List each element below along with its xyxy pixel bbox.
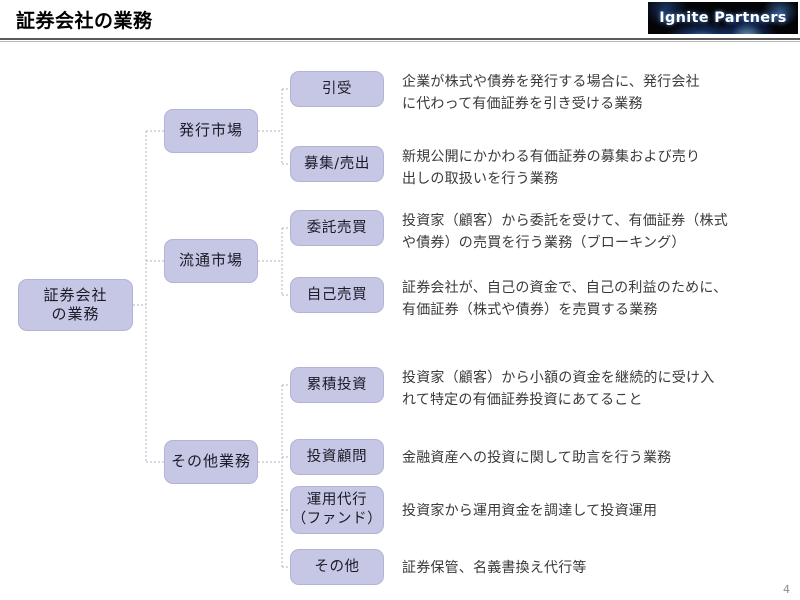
- node-leaf-proprietary-trading[interactable]: 自己売買: [290, 277, 384, 313]
- node-leaf-underwriting[interactable]: 引受: [290, 71, 384, 107]
- node-leaf-public-offering[interactable]: 募集/売出: [290, 146, 384, 182]
- header-divider: [0, 38, 800, 42]
- node-leaf-investment-advisory[interactable]: 投資顧問: [290, 439, 384, 475]
- node-branch-other-services[interactable]: その他業務: [164, 440, 258, 484]
- desc-underwriting: 企業が株式や債券を発行する場合に、発行会社 に代わって有価証券を引き受ける業務: [402, 72, 794, 115]
- node-leaf-others[interactable]: その他: [290, 549, 384, 585]
- header-divider-light: [0, 41, 800, 42]
- slide-header: 証券会社の業務 Ignite Partners: [0, 0, 800, 44]
- brand-logo-text: Ignite Partners: [648, 2, 798, 34]
- node-root[interactable]: 証券会社 の業務: [18, 279, 133, 331]
- brand-logo: Ignite Partners: [648, 2, 798, 34]
- node-leaf-fund-management[interactable]: 運用代行 （ファンド）: [290, 486, 384, 534]
- node-branch-secondary-market[interactable]: 流通市場: [164, 239, 258, 283]
- desc-public-offering: 新規公開にかかわる有価証券の募集および売り 出しの取扱いを行う業務: [402, 147, 794, 190]
- desc-accumulated-investment: 投資家（顧客）から小額の資金を継続的に受け入 れて特定の有価証券投資にあてること: [402, 368, 794, 411]
- node-leaf-brokerage[interactable]: 委託売買: [290, 210, 384, 246]
- desc-fund-management: 投資家から運用資金を調達して投資運用: [402, 501, 794, 523]
- org-chart-diagram: 証券会社 の業務 発行市場 流通市場 その他業務 引受 企業が株式や債券を発行す…: [0, 44, 800, 600]
- node-branch-issuing-market[interactable]: 発行市場: [164, 109, 258, 153]
- node-leaf-accumulated-investment[interactable]: 累積投資: [290, 367, 384, 403]
- desc-investment-advisory: 金融資産への投資に関して助言を行う業務: [402, 448, 794, 470]
- desc-proprietary-trading: 証券会社が、自己の資金で、自己の利益のために、 有価証券（株式や債券）を売買する…: [402, 278, 794, 321]
- page-number: 4: [783, 583, 790, 596]
- header-divider-dark: [0, 38, 800, 40]
- desc-brokerage: 投資家（顧客）から委託を受けて、有価証券（株式 や債券）の売買を行う業務（ブロー…: [402, 211, 794, 254]
- page-title: 証券会社の業務: [16, 6, 153, 33]
- desc-others: 証券保管、名義書換え代行等: [402, 558, 794, 580]
